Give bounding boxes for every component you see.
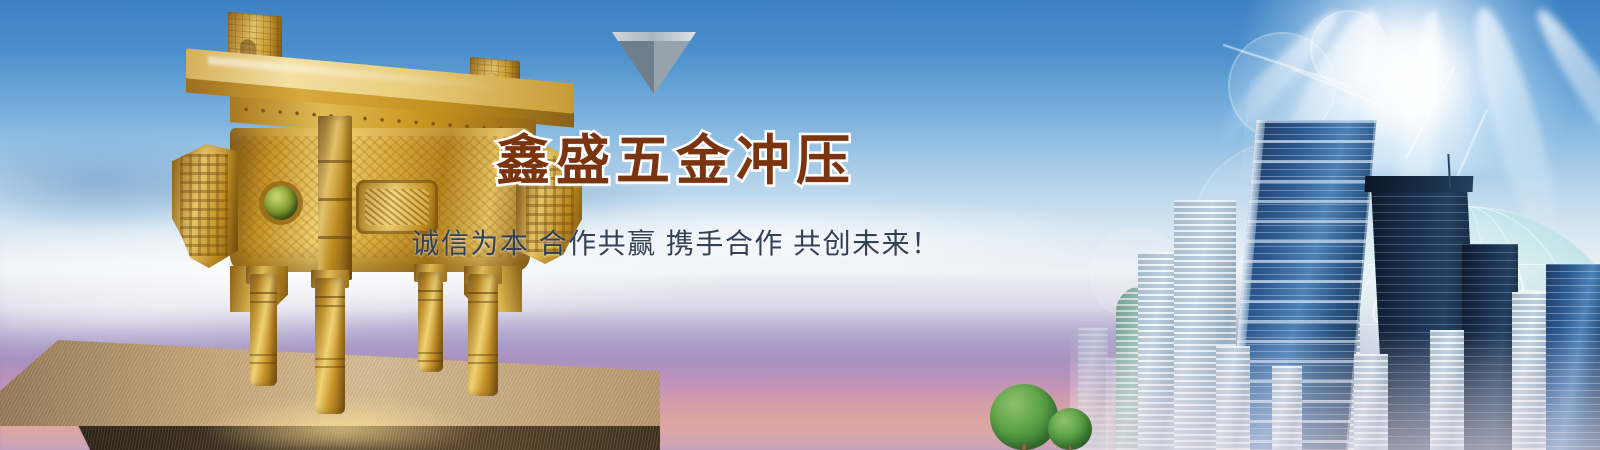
- banner-copy-inner: 鑫盛五金冲压 诚信为本 合作共赢 携手合作 共创未来！: [411, 132, 940, 262]
- banner-tagline: 诚信为本 合作共赢 携手合作 共创未来！: [411, 222, 940, 262]
- banner-copy: 鑫盛五金冲压 诚信为本 合作共赢 携手合作 共创未来！: [0, 132, 1600, 262]
- ding-leg: [468, 274, 498, 396]
- roadside-tree: [1048, 408, 1092, 450]
- ding-leg: [418, 272, 443, 372]
- pyramid-right-face: [654, 32, 696, 94]
- tree-trunk: [1068, 446, 1073, 450]
- hero-banner: 鑫盛五金冲压 诚信为本 合作共赢 携手合作 共创未来！: [0, 0, 1600, 450]
- tree-trunk: [1021, 444, 1028, 450]
- pyramid-top-face: [612, 32, 696, 41]
- tree-crown: [1048, 408, 1092, 450]
- banner-headline: 鑫盛五金冲压: [411, 132, 940, 190]
- city-atmospheric-haze: [1070, 330, 1600, 450]
- ding-leg: [315, 278, 345, 414]
- ding-leg: [250, 274, 277, 386]
- pyramid-left-face: [612, 32, 654, 94]
- floating-metal-pyramid: [612, 32, 696, 94]
